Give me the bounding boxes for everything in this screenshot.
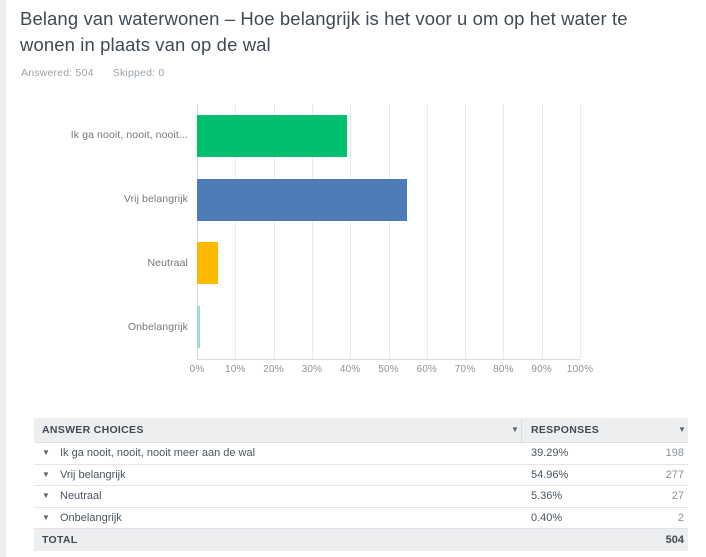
chart-x-tick-label: 60% bbox=[416, 364, 437, 375]
response-percent: 54.96% bbox=[531, 469, 568, 481]
table-row[interactable]: ▼Vrij belangrijk54.96%277 bbox=[34, 465, 688, 487]
chart-gridline bbox=[580, 104, 581, 359]
header-column-divider bbox=[521, 418, 522, 443]
chart-x-tick-label: 0% bbox=[190, 364, 205, 375]
answer-choice-label: Onbelangrijk bbox=[60, 512, 122, 524]
chart-gridline bbox=[542, 104, 543, 359]
chart-bar bbox=[197, 115, 347, 157]
chevron-down-icon[interactable]: ▼ bbox=[511, 426, 519, 434]
response-count: 198 bbox=[666, 447, 684, 459]
response-count: 27 bbox=[672, 490, 684, 502]
chart-gridline bbox=[465, 104, 466, 359]
column-header-responses[interactable]: RESPONSES bbox=[531, 424, 599, 436]
response-percent: 0.40% bbox=[531, 512, 562, 524]
chevron-down-icon[interactable]: ▼ bbox=[678, 426, 686, 434]
chart-x-tick-label: 100% bbox=[567, 364, 593, 375]
page-title: Belang van waterwonen – Hoe belangrijk i… bbox=[20, 6, 680, 58]
chart-category-label: Vrij belangrijk bbox=[13, 187, 188, 213]
total-label: TOTAL bbox=[42, 534, 78, 546]
chart-x-tick-label: 80% bbox=[493, 364, 514, 375]
chart-gridline bbox=[503, 104, 504, 359]
chart-x-tick-label: 20% bbox=[263, 364, 284, 375]
chart-bar bbox=[197, 306, 200, 348]
bar-chart: Ik ga nooit, nooit, nooit...Vrij belangr… bbox=[6, 98, 706, 383]
chart-category-label: Onbelangrijk bbox=[13, 314, 188, 340]
chevron-down-icon[interactable]: ▼ bbox=[42, 471, 50, 479]
chevron-down-icon[interactable]: ▼ bbox=[42, 449, 50, 457]
chart-gridline bbox=[350, 104, 351, 359]
survey-question-panel: Belang van waterwonen – Hoe belangrijk i… bbox=[6, 0, 706, 557]
response-percent: 39.29% bbox=[531, 447, 568, 459]
responses-table: ANSWER CHOICES ▼ RESPONSES ▼ ▼Ik ga nooi… bbox=[34, 418, 688, 551]
response-percent: 5.36% bbox=[531, 490, 562, 502]
chart-x-tick-label: 70% bbox=[455, 364, 476, 375]
response-count: 2 bbox=[678, 512, 684, 524]
chart-category-label: Ik ga nooit, nooit, nooit... bbox=[13, 123, 188, 149]
table-row[interactable]: ▼Neutraal5.36%27 bbox=[34, 486, 688, 508]
chart-x-tick-label: 90% bbox=[531, 364, 552, 375]
chevron-down-icon[interactable]: ▼ bbox=[42, 514, 50, 522]
chart-bar bbox=[197, 179, 407, 221]
answer-choice-label: Neutraal bbox=[60, 490, 102, 502]
response-meta: Answered: 504 Skipped: 0 bbox=[21, 67, 164, 79]
chart-category-labels: Ik ga nooit, nooit, nooit...Vrij belangr… bbox=[6, 104, 188, 359]
response-count: 277 bbox=[666, 469, 684, 481]
answer-choice-label: Ik ga nooit, nooit, nooit meer aan de wa… bbox=[60, 447, 255, 459]
chart-x-axis-line bbox=[197, 359, 580, 360]
chevron-down-icon[interactable]: ▼ bbox=[42, 492, 50, 500]
chart-x-tick-labels: 0%10%20%30%40%50%60%70%80%90%100% bbox=[197, 364, 580, 380]
chart-x-tick-label: 30% bbox=[302, 364, 323, 375]
chart-x-tick-label: 40% bbox=[340, 364, 361, 375]
skipped-count: Skipped: 0 bbox=[113, 67, 165, 79]
answered-count: Answered: 504 bbox=[21, 67, 94, 79]
table-total-row: TOTAL 504 bbox=[34, 529, 688, 551]
chart-x-tick-label: 10% bbox=[225, 364, 246, 375]
chart-gridline bbox=[427, 104, 428, 359]
table-header-row: ANSWER CHOICES ▼ RESPONSES ▼ bbox=[34, 418, 688, 443]
column-header-answer-choices[interactable]: ANSWER CHOICES bbox=[42, 424, 144, 436]
chart-x-tick-label: 50% bbox=[378, 364, 399, 375]
table-row[interactable]: ▼Onbelangrijk0.40%2 bbox=[34, 508, 688, 530]
chart-bar bbox=[197, 242, 218, 284]
chart-plot-area bbox=[197, 104, 580, 359]
total-count: 504 bbox=[666, 534, 684, 546]
table-row[interactable]: ▼Ik ga nooit, nooit, nooit meer aan de w… bbox=[34, 443, 688, 465]
chart-gridline bbox=[389, 104, 390, 359]
answer-choice-label: Vrij belangrijk bbox=[60, 469, 126, 481]
table-body: ▼Ik ga nooit, nooit, nooit meer aan de w… bbox=[34, 443, 688, 529]
chart-category-label: Neutraal bbox=[13, 250, 188, 276]
